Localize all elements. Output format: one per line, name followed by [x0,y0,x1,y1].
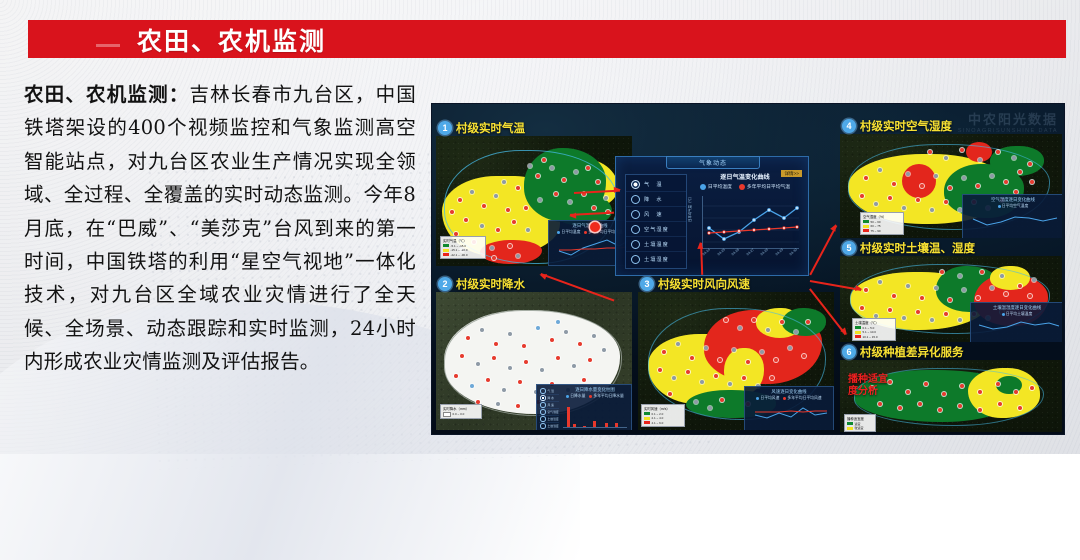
weather-console[interactable]: 气象动态 详情>> 气 温 降 水 风 速 空气湿度 土壤温度 [615,156,809,276]
panel-label-4: 村级实时空气湿度 [860,118,952,134]
radio-option-air-temperature[interactable]: 气 温 [626,177,686,192]
console-title: 气象动态 [699,158,727,167]
panel-2-map[interactable]: 实时降水（mm） 0.0 ~ 0.0 逐日降水量变化柱图 日降水量 多年平均日降… [436,292,632,430]
bar [573,424,576,427]
panel-caption-6: 6 村级种植差异化服务 [842,344,964,360]
metric-radio-group[interactable]: 气 温 降 水 风 速 空气湿度 土壤温度 土壤湿度 [625,174,687,269]
legend-soil: 土壤温度（℃） 0.1 ~ 5.0 5.1 ~ 10.0 10.1 ~ 15.0 [852,318,896,341]
panel-badge-3: 3 [640,277,654,291]
inset-line-chart [963,209,1062,235]
chart-x-ticks: 03-24 03-25 03-26 03-27 03-28 03-29 03-3… [702,250,798,254]
radio-option-air-humidity[interactable]: 空气湿度 [626,222,686,237]
panel-label-3: 村级实时风向风速 [658,276,750,292]
legend-row: 5.1 ~ 10.0 [855,330,893,334]
legend-entry-1[interactable]: 多年平均日平均气温 [739,183,790,190]
radio-label: 气 温 [644,181,663,188]
panel-label-6: 村级种植差异化服务 [860,344,964,360]
legend-title: 空气湿度（%） [863,214,901,219]
legend-precipitation: 实时降水（mm） 0.0 ~ 0.0 [440,404,482,419]
legend-title: 土壤温度（℃） [855,320,893,325]
legend-row: 较适宜 [847,426,873,430]
chart-svg [703,196,799,248]
legend-wind: 实时风速（m/s） 0.1 ~ 2.0 2.1 ~ 4.0 4.1 ~ 6.0 [641,404,685,427]
bar [567,407,570,427]
legend-row: 0.0 ~ 0.0 [443,412,479,417]
radio-icon[interactable] [631,225,640,234]
radio-option-soil-humidity[interactable]: 土壤湿度 [626,252,686,266]
panel-badge-5: 5 [842,241,856,255]
radio-icon[interactable] [631,210,640,219]
legend-entry-0[interactable]: 日平均温度 [700,183,732,190]
legend-row: 0.1 ~ 5.0 [855,326,893,330]
radio-label: 降 水 [644,196,663,203]
legend-row: 0.1 ~ 2.0 [644,412,682,416]
inset-chart-soil[interactable]: 土壤温湿度逐日变化曲线 日平均土壤温度 [970,302,1062,342]
inset-title: 空气湿度逐日变化曲线 [963,197,1062,203]
legend-row: 4.1 ~ 6.0 [644,421,682,425]
legend-row: -22.1 ~ -30.0 [443,253,483,257]
legend-temperature: 实时气温（℃） -5.1 ~ -15.0 -15.1 ~ -22.0 -22.1… [440,236,486,259]
inset-title: 风速逐日变化曲线 [745,389,833,395]
legend-crop: 播种适宜度 适宜 较适宜 [844,414,876,432]
panel-badge-1: 1 [438,121,452,135]
inset-title: 逐日降水量变化柱图 [559,387,631,393]
inset-bar-chart [563,405,627,428]
dashboard-screenshot: 中农阳光数据 SINOAGRISUNSHINE DATA 1 村级实时气温 [432,104,1064,434]
legend-row: -5.1 ~ -15.0 [443,244,483,248]
article-body: 吉林长春市九台区，中国铁塔架设的400个视频监控和气象监测高空智能站点，对九台区… [24,83,416,373]
legend-row: 10.1 ~ 15.0 [855,335,893,339]
panel-3-map[interactable]: 实时风速（m/s） 0.1 ~ 2.0 2.1 ~ 4.0 4.1 ~ 6.0 … [638,292,834,430]
radio-label: 风 速 [644,211,663,218]
radio-icon[interactable] [631,180,640,189]
radio-icon[interactable] [631,255,640,264]
legend-title: 实时降水（mm） [443,406,479,411]
legend-row: 75 ~ 90 [863,229,901,233]
radio-icon[interactable] [631,195,640,204]
inset-chart-precipitation[interactable]: 逐日降水量变化柱图 日降水量 多年平均日降水量 气 温 降 水 风 速 空气湿度… [536,384,632,430]
inset-chart-humidity[interactable]: 空气湿度逐日变化曲线 日平均空气湿度 [962,194,1062,238]
article-lead: 农田、农机监测： [24,83,189,106]
radio-option-wind-speed[interactable]: 风 速 [626,207,686,222]
panel-caption-3: 3 村级实时风向风速 [640,276,750,292]
legend-title: 实时气温（℃） [443,238,483,243]
chart-legend: 日平均温度 多年平均日平均气温 [690,183,800,190]
bar [615,423,618,427]
radio-option-soil-temperature[interactable]: 土壤温度 [626,237,686,252]
panel-1-map[interactable]: 实时气温（℃） -5.1 ~ -15.0 -15.1 ~ -22.0 -22.1… [436,136,632,266]
radio-label: 土壤湿度 [644,256,669,263]
panel-label-1: 村级实时气温 [456,120,525,136]
radio-label: 土壤温度 [644,241,669,248]
panel-6-map[interactable]: 播种适宜度分析 播种适宜度 适宜 较适宜 [840,360,1062,432]
panel-6-overlay-label: 播种适宜度分析 [848,374,888,398]
page-title: 农田、农机监测 [137,22,326,58]
bar [583,426,586,427]
inset-line-chart [745,401,833,427]
inset-radio-list[interactable]: 气 温 降 水 风 速 空气湿度 土壤温度 土壤湿度 [539,388,559,429]
main-line-chart[interactable]: 逐日气温变化曲线 日平均温度 多年平均日平均气温 日平均气温（℃） [690,172,800,268]
panel-5-map[interactable]: 土壤温度（℃） 0.1 ~ 5.0 5.1 ~ 10.0 10.1 ~ 15.0… [840,256,1062,342]
chart-title: 逐日气温变化曲线 [690,172,800,181]
legend-row: -15.1 ~ -22.0 [443,248,483,252]
panel-caption-1: 1 村级实时气温 [438,120,525,136]
panel-badge-2: 2 [438,277,452,291]
console-header-tab: 气象动态 [666,156,760,169]
panel-4-map[interactable]: 空气湿度（%） 50 ~ 60 60 ~ 75 75 ~ 90 空气湿度逐日变化… [840,134,1062,238]
legend-row: 60 ~ 75 [863,224,901,228]
bar [605,423,608,427]
legend-row: 50 ~ 60 [863,220,901,224]
legend-row: 2.1 ~ 4.0 [644,416,682,420]
chart-y-axis-label: 日平均气温（℃） [689,196,699,248]
legend-title: 实时风速（m/s） [644,406,682,411]
radio-label: 空气湿度 [644,226,669,233]
panel-caption-2: 2 村级实时降水 [438,276,525,292]
panel-label-2: 村级实时降水 [456,276,525,292]
inset-legend: 日降水量 多年平均日降水量 [559,394,631,399]
panel-badge-6: 6 [842,345,856,359]
inset-title: 土壤温湿度逐日变化曲线 [971,305,1062,311]
panel-caption-4: 4 村级实时空气湿度 [842,118,952,134]
panel-caption-5: 5 村级实时土壤温、湿度 [842,240,975,256]
inset-chart-wind[interactable]: 风速逐日变化曲线 日平均风速 多年平均日平均风速 [744,386,834,430]
panel-label-5: 村级实时土壤温、湿度 [860,240,975,256]
inset-line-chart [971,316,1062,338]
chart-plot-area [702,196,799,249]
legend-row: 适宜 [847,422,873,426]
highlight-station-marker [590,222,600,232]
panel-badge-4: 4 [842,119,856,133]
radio-icon[interactable] [631,240,640,249]
radio-option-precipitation[interactable]: 降 水 [626,192,686,207]
legend-humidity: 空气湿度（%） 50 ~ 60 60 ~ 75 75 ~ 90 [860,212,904,235]
article-text: 农田、农机监测：吉林长春市九台区，中国铁塔架设的400个视频监控和气象监测高空智… [24,78,416,379]
bar [593,421,596,427]
legend-title: 播种适宜度 [847,416,873,421]
header-ghost-mark [96,44,120,47]
